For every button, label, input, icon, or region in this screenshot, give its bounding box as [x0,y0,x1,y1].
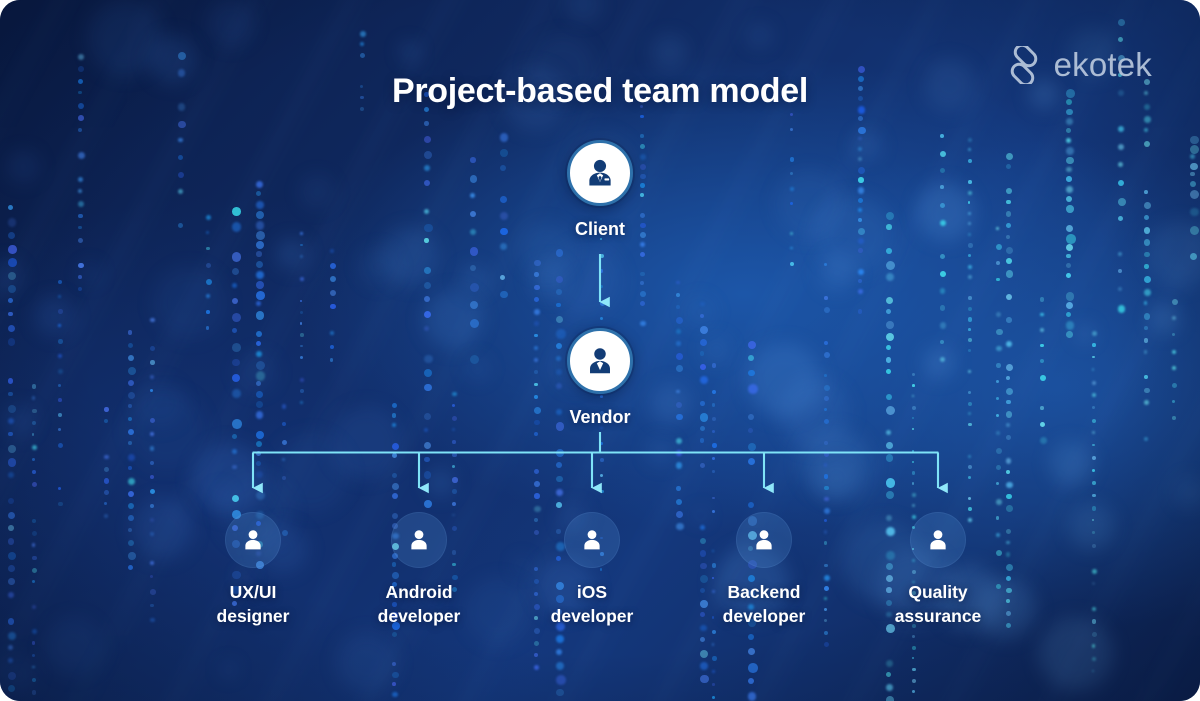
node-avatar-ios-developer [564,512,620,568]
node-ux-ui-designer[interactable]: UX/UI designer [158,512,348,628]
node-android-developer[interactable]: Android developer [324,512,514,628]
node-avatar-backend-developer [736,512,792,568]
node-label-android-developer: Android developer [324,580,514,628]
person-icon [240,527,266,553]
node-ios-developer[interactable]: iOS developer [497,512,687,628]
node-label-ux-ui-designer: UX/UI designer [158,580,348,628]
node-avatar-ux-ui-designer [225,512,281,568]
infographic-canvas: ekotek Project-based team model ClientVe… [0,0,1200,701]
node-backend-developer[interactable]: Backend developer [669,512,859,628]
person-icon [583,344,617,378]
node-avatar-android-developer [391,512,447,568]
node-client[interactable]: Client [505,140,695,242]
page-title: Project-based team model [0,72,1200,111]
person-icon [579,527,605,553]
person-icon [406,527,432,553]
node-label-ios-developer: iOS developer [497,580,687,628]
node-quality-assurance[interactable]: Quality assurance [843,512,1033,628]
node-label-quality-assurance: Quality assurance [843,580,1033,628]
person-icon [751,527,777,553]
node-avatar-client [567,140,633,206]
node-avatar-quality-assurance [910,512,966,568]
node-label-backend-developer: Backend developer [669,580,859,628]
person-in-suit-icon [583,156,617,190]
node-label-vendor: Vendor [505,405,695,430]
node-avatar-vendor [567,328,633,394]
person-icon [925,527,951,553]
node-label-client: Client [505,217,695,242]
node-vendor[interactable]: Vendor [505,328,695,430]
